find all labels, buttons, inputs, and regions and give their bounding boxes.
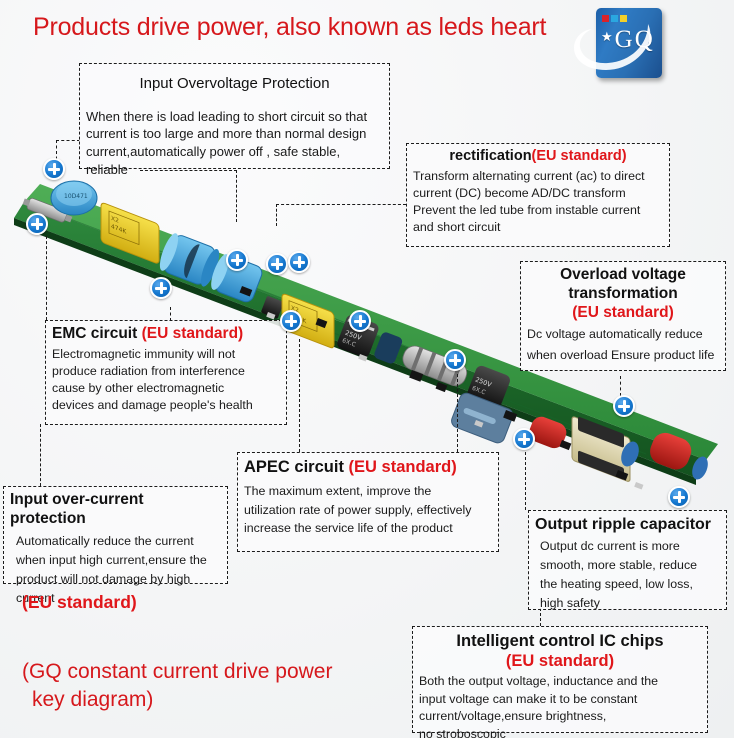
callout-body: Transform alternating current (ac) to di… bbox=[413, 168, 663, 236]
connector-ripple bbox=[525, 452, 526, 510]
callout-body-line: current (DC) become AD/DC transform bbox=[413, 185, 663, 202]
callout-body: Output dc current is more smooth, more s… bbox=[535, 537, 720, 614]
callout-input-overcurrent: Input over-current protection Automatica… bbox=[3, 486, 228, 584]
hotspot-marker-7[interactable] bbox=[288, 251, 310, 273]
footer-caption-line1: (GQ constant current drive power bbox=[22, 658, 412, 686]
callout-title: Intelligent control IC chips (EU standar… bbox=[419, 631, 701, 671]
connector-emc2 bbox=[170, 307, 171, 321]
svg-text:474K: 474K bbox=[111, 223, 127, 236]
callout-body-line: when input high current,ensure the bbox=[16, 551, 221, 570]
callout-body-line: Output dc current is more bbox=[540, 537, 720, 556]
callout-body-line: The maximum extent, improve the bbox=[244, 482, 492, 501]
connector-overvoltage-h bbox=[56, 140, 80, 141]
star-icon: ★ bbox=[601, 29, 615, 44]
callout-body-line: when overload Ensure product life bbox=[527, 347, 719, 364]
svg-text:6X.C: 6X.C bbox=[341, 337, 357, 349]
hotspot-marker-2[interactable] bbox=[26, 213, 48, 235]
callout-title: Overload voltage transformation (EU stan… bbox=[527, 266, 719, 323]
callout-title-line1: Overload voltage bbox=[527, 266, 719, 285]
svg-text:250V: 250V bbox=[474, 375, 493, 389]
hotspot-marker-9[interactable] bbox=[444, 349, 466, 371]
hotspot-marker-4[interactable] bbox=[226, 249, 248, 271]
callout-apec-circuit: APEC circuit (EU standard) The maximum e… bbox=[237, 452, 499, 552]
callout-title: APEC circuit (EU standard) bbox=[244, 457, 492, 477]
callout-body-line: Prevent the led tube from instable curre… bbox=[413, 202, 663, 219]
callout-title-red: (EU standard) bbox=[419, 651, 701, 671]
svg-text:X2: X2 bbox=[111, 215, 119, 225]
callout-title-red: (EU standard) bbox=[532, 148, 627, 164]
connector-emc bbox=[46, 236, 47, 320]
input-overcurrent-eu-standard: (EU standard) bbox=[22, 592, 137, 613]
hotspot-marker-3[interactable] bbox=[150, 277, 172, 299]
callout-body: Dc voltage automatically reduce when ove… bbox=[527, 326, 719, 364]
connector-rect-h bbox=[276, 204, 406, 205]
hotspot-marker-10[interactable] bbox=[513, 428, 535, 450]
callout-title: Input Overvoltage Protection bbox=[86, 74, 383, 94]
callout-body-line: utilization rate of power supply, effect… bbox=[244, 501, 492, 520]
callout-body: The maximum extent, improve the utilizat… bbox=[244, 482, 492, 538]
callout-body-line: the heating speed, low loss, bbox=[540, 575, 720, 594]
callout-body-line: input voltage can make it to be constant bbox=[419, 691, 701, 709]
callout-body-line: Automatically reduce the current bbox=[16, 532, 221, 551]
callout-body-line: Transform alternating current (ac) to di… bbox=[413, 168, 663, 185]
diagram-canvas: Products drive power, also known as leds… bbox=[0, 0, 734, 738]
callout-title: rectification(EU standard) bbox=[413, 148, 663, 166]
callout-body-line: and short circuit bbox=[413, 219, 663, 236]
logo-swatch-blue bbox=[611, 15, 618, 22]
callout-body: Both the output voltage, inductance and … bbox=[419, 673, 701, 738]
callout-title-line2: transformation bbox=[527, 285, 719, 304]
callout-body-line: increase the service life of the product bbox=[244, 519, 492, 538]
gq-logo-card: ★GQ bbox=[596, 8, 662, 78]
callout-input-overvoltage: Input Overvoltage Protection When there … bbox=[79, 63, 390, 169]
callout-title: Input over-current protection bbox=[10, 491, 221, 529]
page-title: Products drive power, also known as leds… bbox=[33, 13, 546, 42]
callout-body-line: Dc voltage automatically reduce bbox=[527, 326, 719, 343]
connector-apec bbox=[299, 339, 300, 452]
callout-title: EMC circuit (EU standard) bbox=[52, 325, 280, 344]
callout-body-line: smooth, more stable, reduce bbox=[540, 556, 720, 575]
callout-title-red: (EU standard) bbox=[349, 458, 457, 476]
hotspot-marker-12[interactable] bbox=[668, 486, 690, 508]
hotspot-marker-11[interactable] bbox=[613, 395, 635, 417]
callout-title-red: (EU standard) bbox=[527, 304, 719, 323]
hotspot-marker-6[interactable] bbox=[280, 310, 302, 332]
connector-rect-v bbox=[276, 204, 277, 226]
connector-apec2 bbox=[457, 374, 458, 452]
callout-body-line: devices and damage people's health bbox=[52, 397, 280, 414]
footer-caption: (GQ constant current drive power key dia… bbox=[22, 658, 412, 713]
callout-body: When there is load leading to short circ… bbox=[86, 108, 383, 180]
callout-title-black: APEC circuit bbox=[244, 458, 344, 476]
callout-title-black: rectification bbox=[449, 148, 531, 164]
callout-body: Electromagnetic immunity will not produc… bbox=[52, 346, 280, 414]
svg-text:10D471: 10D471 bbox=[64, 193, 88, 200]
connector-overload bbox=[620, 376, 621, 396]
footer-caption-line2: key diagram) bbox=[22, 686, 412, 714]
hotspot-marker-1[interactable] bbox=[43, 158, 65, 180]
callout-body-line: product will not damage by high bbox=[16, 570, 221, 589]
callout-overload-voltage: Overload voltage transformation (EU stan… bbox=[520, 261, 726, 371]
callout-title-red: (EU standard) bbox=[142, 325, 244, 342]
callout-title: Output ripple capacitor bbox=[535, 515, 720, 535]
callout-body-line: no stroboscopic bbox=[419, 726, 701, 738]
callout-body-line: Both the output voltage, inductance and … bbox=[419, 673, 701, 691]
callout-title-black: Intelligent control IC chips bbox=[419, 631, 701, 651]
svg-text:6X.C: 6X.C bbox=[471, 385, 487, 397]
callout-body-line: current/voltage,ensure brightness, bbox=[419, 708, 701, 726]
callout-body-line: Electromagnetic immunity will not bbox=[52, 346, 280, 363]
logo-swatch-red bbox=[602, 15, 609, 22]
callout-body-line: high safety bbox=[540, 594, 720, 613]
callout-body-line: produce radiation from interference bbox=[52, 363, 280, 380]
hotspot-marker-8[interactable] bbox=[349, 310, 371, 332]
gq-logo: ★GQ bbox=[588, 4, 670, 86]
hotspot-marker-5[interactable] bbox=[266, 253, 288, 275]
callout-title-black: EMC circuit bbox=[52, 325, 137, 342]
callout-output-ripple: Output ripple capacitor Output dc curren… bbox=[528, 510, 727, 610]
callout-body-line: cause by other electromagnetic bbox=[52, 380, 280, 397]
gq-logo-letters: GQ bbox=[615, 26, 655, 53]
callout-emc-circuit: EMC circuit (EU standard) Electromagneti… bbox=[45, 320, 287, 425]
connector-input-oc bbox=[40, 424, 41, 486]
callout-intelligent-ic: Intelligent control IC chips (EU standar… bbox=[412, 626, 708, 733]
callout-rectification: rectification(EU standard) Transform alt… bbox=[406, 143, 670, 247]
gq-logo-text: ★GQ bbox=[601, 26, 661, 54]
logo-swatch-yellow bbox=[620, 15, 627, 22]
